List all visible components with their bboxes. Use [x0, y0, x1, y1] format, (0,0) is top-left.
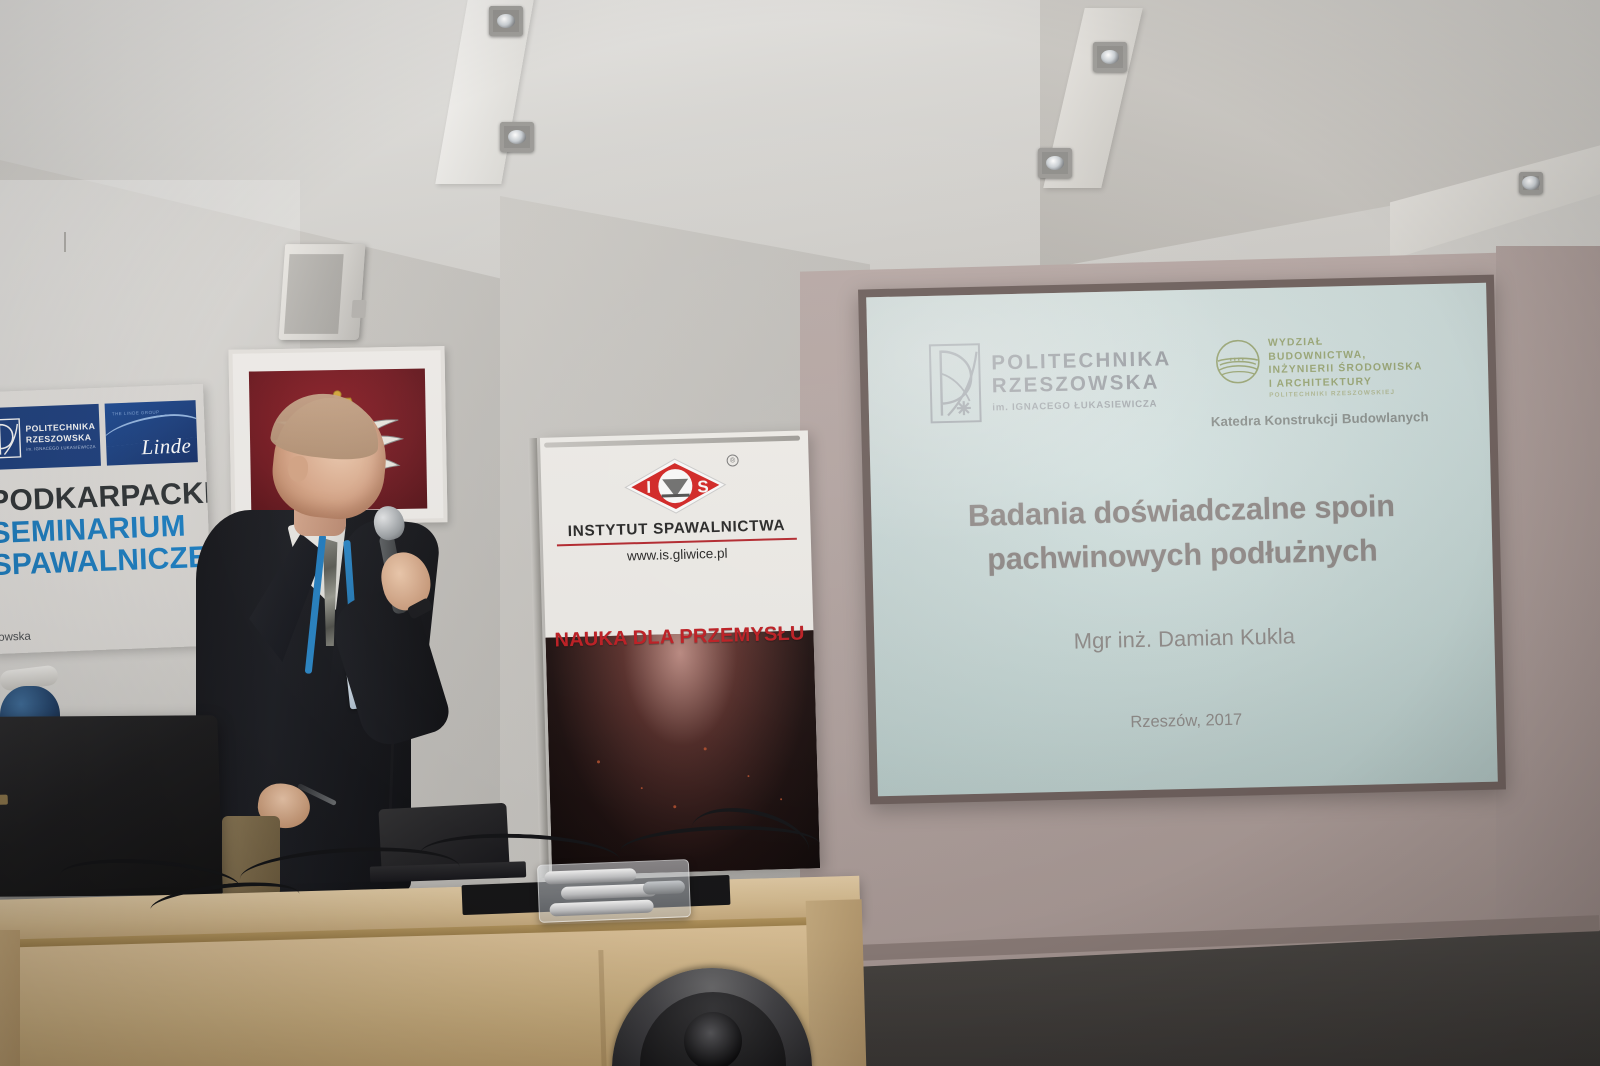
equipment-under-desk-lens — [684, 1012, 742, 1066]
politechnika-rzeszowska-logo — [928, 343, 982, 424]
rollup-top-rail — [544, 436, 800, 448]
is-diamond-icon: I S — [621, 455, 731, 518]
recessed-ceiling-spotlight — [1519, 172, 1543, 194]
speaker-grille — [284, 254, 344, 334]
linde-wordmark: Linde — [141, 433, 192, 460]
institute-name: INSTYTUT SPAWALNICTWA — [556, 517, 797, 547]
slide-faculty-text: WYDZIAŁ BUDOWNICTWA, INŻYNIERII ŚRODOWIS… — [1268, 332, 1424, 400]
speaker-mount-stem — [64, 232, 66, 252]
recessed-ceiling-spotlight — [1093, 42, 1127, 72]
slide-university-line3: im. IGNACEGO ŁUKASIEWICZA — [992, 398, 1172, 413]
banner-left-title: PODKARPACKIE SEMINARIUM SPAWALNICZE — [0, 462, 210, 582]
institute-website: www.is.gliwice.pl — [543, 543, 811, 565]
registered-trademark-icon: ® — [726, 454, 738, 466]
podkarpackie-seminarium-spawalnicze-banner: POLITECHNIKA RZESZOWSKA im. IGNACEGO ŁUK… — [0, 384, 213, 654]
projected-slide: POLITECHNIKA RZESZOWSKA im. IGNACEGO ŁUK… — [866, 283, 1498, 796]
desk-left-side — [0, 930, 20, 1066]
politechnika-rzeszowska-logo — [0, 418, 22, 459]
slide-logo-row: POLITECHNIKA RZESZOWSKA im. IGNACEGO ŁUK… — [867, 331, 1489, 438]
svg-text:I: I — [646, 478, 651, 497]
slide-author: Mgr inż. Damian Kukla — [874, 619, 1494, 660]
banner-left-university-logo: POLITECHNIKA RZESZOWSKA im. IGNACEGO ŁUK… — [0, 404, 101, 470]
recessed-ceiling-spotlight — [500, 122, 534, 152]
wall-right-return — [1496, 246, 1600, 976]
slide-faculty-logo-row: WYDZIAŁ BUDOWNICTWA, INŻYNIERII ŚRODOWIS… — [1214, 332, 1424, 401]
banner-left-linde-logo: THE LINDE GROUP Linde — [104, 400, 197, 465]
banner-left-title-line3: SPAWALNICZE — [0, 541, 210, 581]
wall-mounted-loudspeaker — [279, 244, 366, 340]
slide-university-logo-block: POLITECHNIKA RZESZOWSKA im. IGNACEGO ŁUK… — [928, 338, 1173, 424]
slide-department-name: Katedra Konstrukcji Budowlanych — [1211, 410, 1429, 430]
banner-left-footer: zowska — [0, 631, 31, 644]
recessed-ceiling-spotlight — [489, 6, 523, 36]
slide-title: Badania doświadczalne spoin pachwinowych… — [905, 484, 1459, 585]
instytut-spawalnictwa-logo: I S ® — [621, 455, 731, 518]
desk-right-panel — [806, 899, 867, 1066]
svg-text:S: S — [697, 477, 709, 496]
slide-university-text: POLITECHNIKA RZESZOWSKA im. IGNACEGO ŁUK… — [991, 338, 1173, 413]
banner-left-university-line3: im. IGNACEGO ŁUKASIEWICZA — [26, 444, 96, 452]
recessed-ceiling-spotlight — [1038, 148, 1072, 178]
banner-left-logo-row: POLITECHNIKA RZESZOWSKA im. IGNACEGO ŁUK… — [0, 384, 206, 470]
slide-place-year: Rzeszów, 2017 — [876, 705, 1496, 739]
presenter-ear — [288, 456, 308, 482]
instytut-spawalnictwa-rollup: I S ® INSTYTUT SPAWALNICTWA www.is.gliwi… — [540, 430, 820, 875]
banner-left-university-text: POLITECHNIKA RZESZOWSKA im. IGNACEGO ŁUK… — [25, 421, 96, 451]
slide-faculty-logo-block: WYDZIAŁ BUDOWNICTWA, INŻYNIERII ŚRODOWIS… — [1209, 332, 1429, 429]
banner-left-university-line2: RZESZOWSKA — [26, 431, 96, 444]
speaker-bracket — [351, 300, 366, 318]
slide-university-line2: RZESZOWSKA — [992, 371, 1173, 398]
wydzial-budownictwa-logo — [1214, 338, 1261, 385]
projection-screen: POLITECHNIKA RZESZOWSKA im. IGNACEGO ŁUK… — [858, 275, 1506, 805]
photo-scene: POLITECHNIKA RZESZOWSKA im. IGNACEGO ŁUK… — [0, 0, 1600, 1066]
